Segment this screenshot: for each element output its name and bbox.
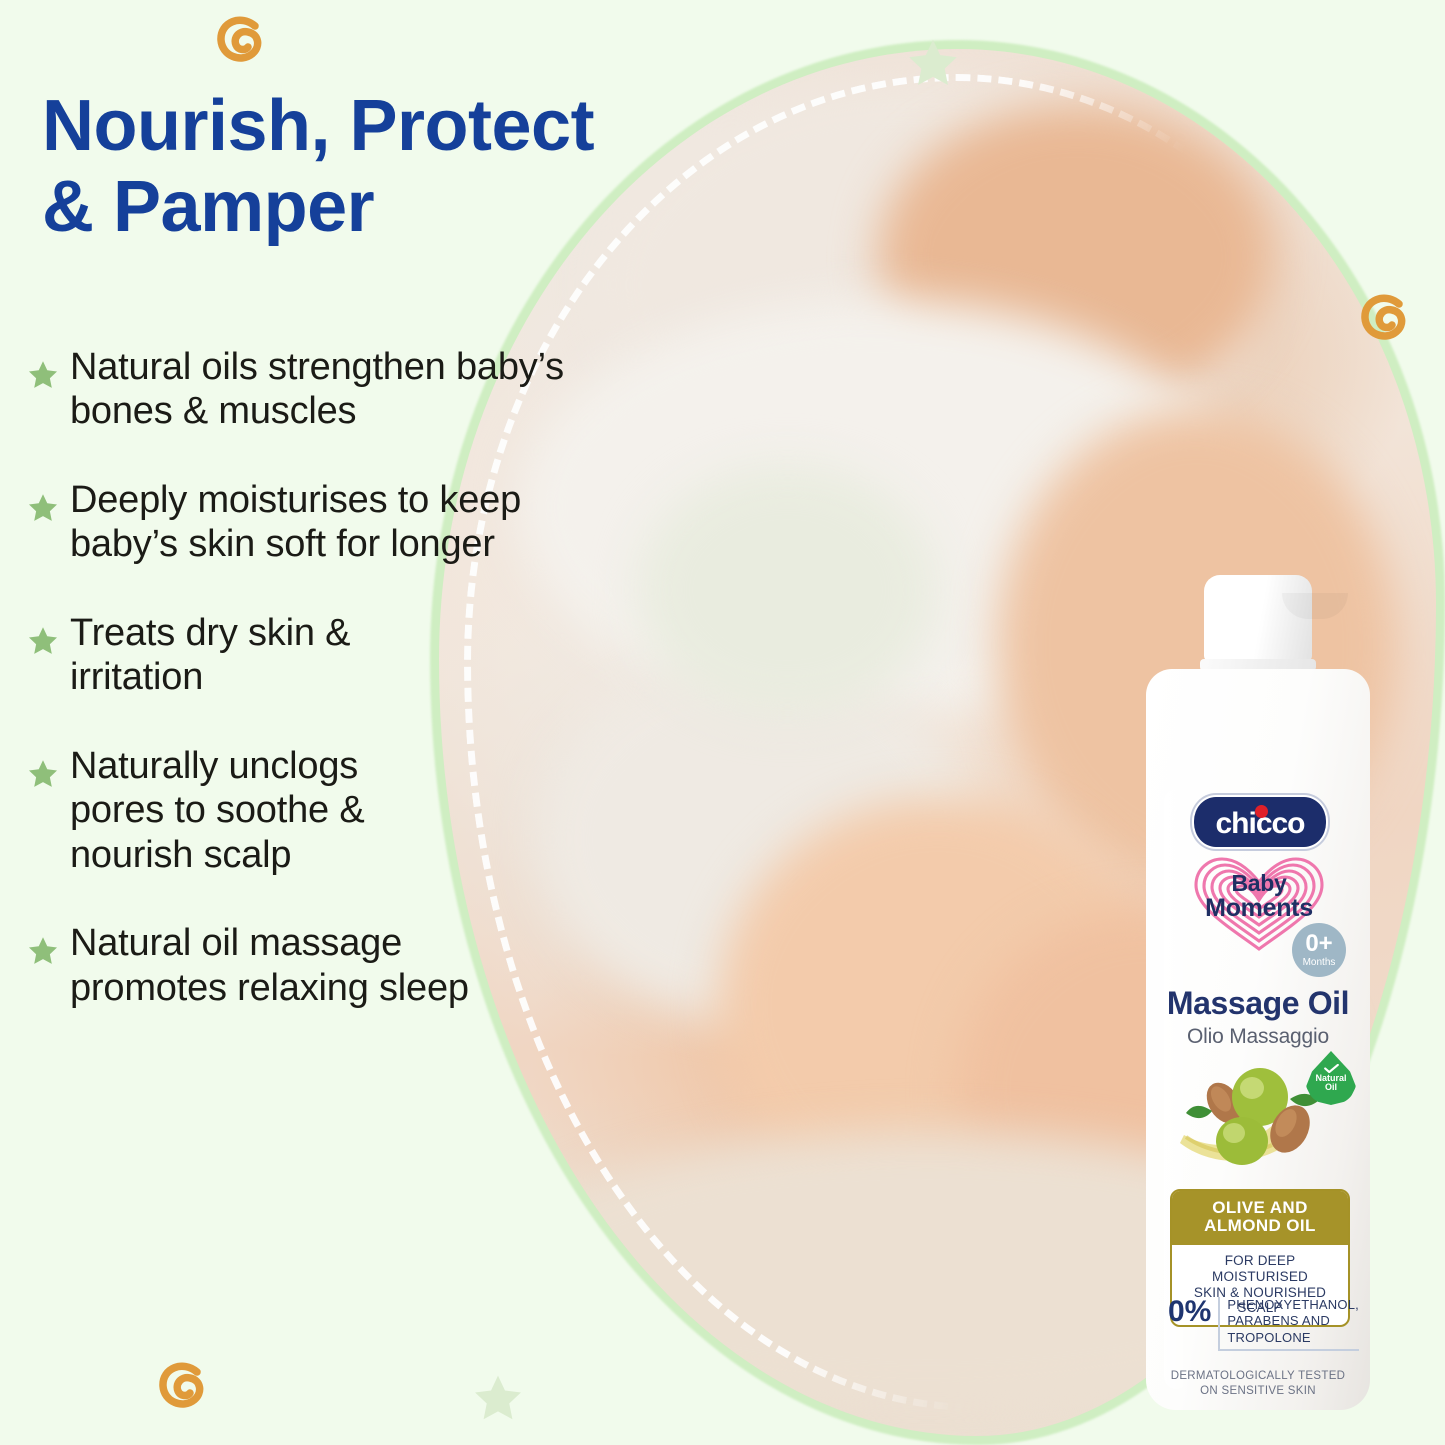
natural-badge-line-2: Oil [1325,1083,1337,1092]
sub-brand-line-1: Baby [1186,871,1332,895]
list-item: Naturally unclogs pores to soothe & nour… [26,744,606,877]
product-bottle: chicco Baby Moments [1146,575,1370,1410]
claim-line-1: FOR DEEP MOISTURISED [1175,1253,1345,1285]
variant-line-2: ALMOND OIL [1176,1217,1344,1235]
star-icon [26,625,60,662]
logo-red-dot-icon [1255,805,1268,818]
sub-brand-line-2: Moments [1186,895,1332,922]
tested-line-1: DERMATOLOGICALLY TESTED [1146,1369,1370,1384]
free-from-percent: 0% [1168,1297,1211,1327]
benefit-text: Naturally unclogs pores to soothe & nour… [70,744,462,877]
bottle-body: chicco Baby Moments [1146,669,1370,1410]
headline-line-2: & Pamper [42,167,742,248]
dermatology-note: DERMATOLOGICALLY TESTED ON SENSITIVE SKI… [1146,1369,1370,1399]
product-name-italian: Olio Massaggio [1146,1025,1370,1049]
benefit-text: Treats dry skin & irritation [70,611,442,700]
free-from-claim: 0% PHENOXYETHANOL, PARABENS AND TROPOLON… [1168,1297,1348,1351]
tested-line-2: ON SENSITIVE SKIN [1146,1384,1370,1399]
page-title: Nourish, Protect & Pamper [42,86,742,247]
star-icon [26,758,60,795]
age-unit: Months [1303,957,1336,969]
list-item: Natural oil massage promotes relaxing sl… [26,921,606,1010]
benefits-list: Natural oils strengthen baby’s bones & m… [26,345,606,1054]
chicco-logo: chicco [1192,795,1328,849]
sub-brand-name: Baby Moments [1186,871,1332,922]
star-icon [904,36,962,92]
free-from-line-1: PHENOXYETHANOL, [1227,1297,1359,1313]
bottle-cap [1204,575,1312,661]
free-from-ingredients: PHENOXYETHANOL, PARABENS AND TROPOLONE [1218,1297,1359,1351]
age-badge: 0+ Months [1292,923,1346,977]
variant-line-1: OLIVE AND [1176,1199,1344,1217]
benefit-text: Deeply moisturises to keep baby’s skin s… [70,478,522,567]
free-from-line-3: TROPOLONE [1227,1330,1359,1346]
star-icon [470,1372,526,1426]
free-from-line-2: PARABENS AND [1227,1313,1359,1329]
benefit-text: Natural oil massage promotes relaxing sl… [70,921,502,1010]
list-item: Deeply moisturises to keep baby’s skin s… [26,478,606,567]
list-item: Treats dry skin & irritation [26,611,606,700]
benefit-text: Natural oils strengthen baby’s bones & m… [70,345,582,434]
spiral-swirl-icon [214,10,272,72]
variant-name: OLIVE AND ALMOND OIL [1172,1191,1348,1245]
spiral-swirl-icon [1358,288,1416,350]
age-number: 0+ [1305,932,1332,956]
star-icon [26,359,60,396]
star-icon [26,935,60,972]
spiral-swirl-icon [156,1356,214,1418]
list-item: Natural oils strengthen baby’s bones & m… [26,345,606,434]
star-icon [26,492,60,529]
cap-notch [1282,593,1348,619]
product-name: Massage Oil [1146,985,1370,1022]
poster-canvas: Nourish, Protect & Pamper Natural oils s… [0,0,1445,1445]
headline-line-1: Nourish, Protect [42,86,742,167]
check-icon [1324,1064,1339,1073]
